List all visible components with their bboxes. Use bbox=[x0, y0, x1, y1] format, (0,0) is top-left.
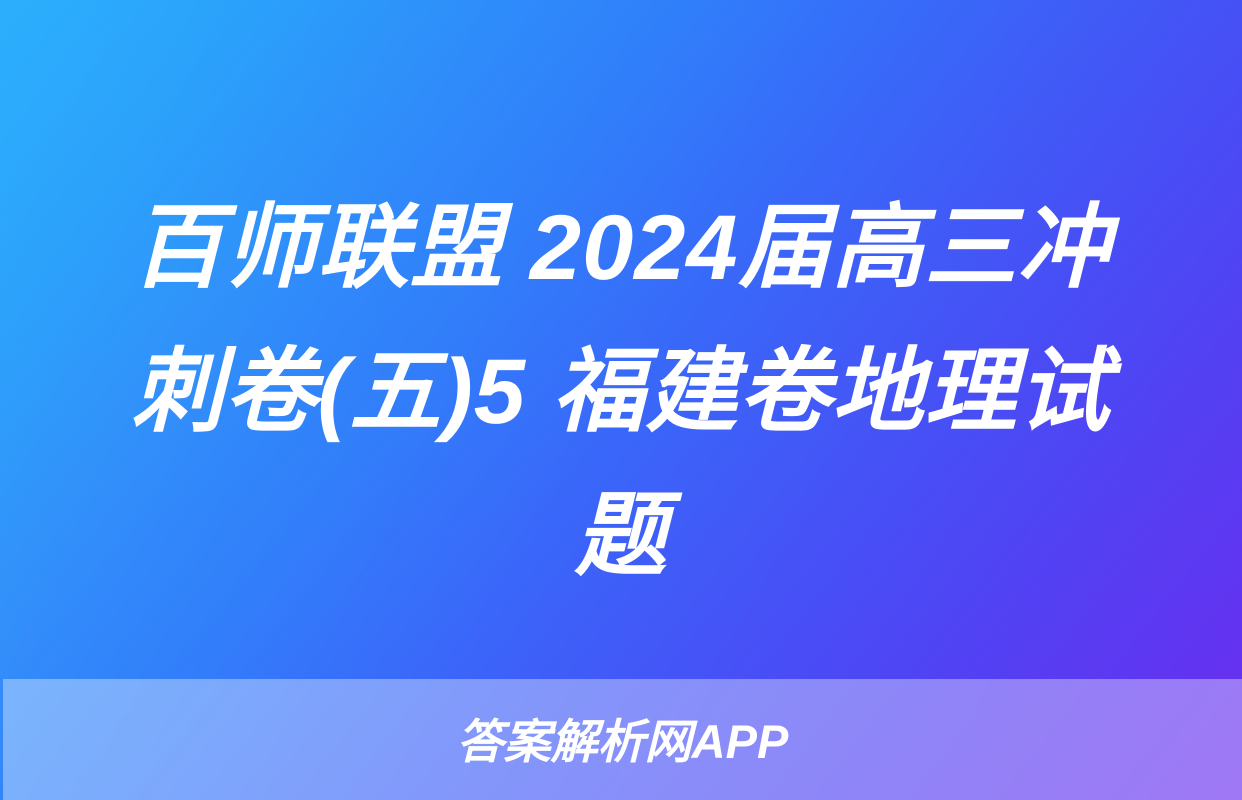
title-line-2: 刺卷(五)5 福建卷地理试 bbox=[64, 320, 1178, 464]
page-title: 百师联盟 2024届高三冲 刺卷(五)5 福建卷地理试 题 bbox=[0, 176, 1242, 608]
title-line-1: 百师联盟 2024届高三冲 bbox=[64, 176, 1178, 320]
title-line-3: 题 bbox=[64, 464, 1178, 608]
watermark-app-label: 答案解析网APP bbox=[457, 718, 789, 765]
title-card: 百师联盟 2024届高三冲 刺卷(五)5 福建卷地理试 题 答案解析网APP bbox=[0, 0, 1242, 800]
watermark-band: 答案解析网APP bbox=[3, 679, 1242, 800]
